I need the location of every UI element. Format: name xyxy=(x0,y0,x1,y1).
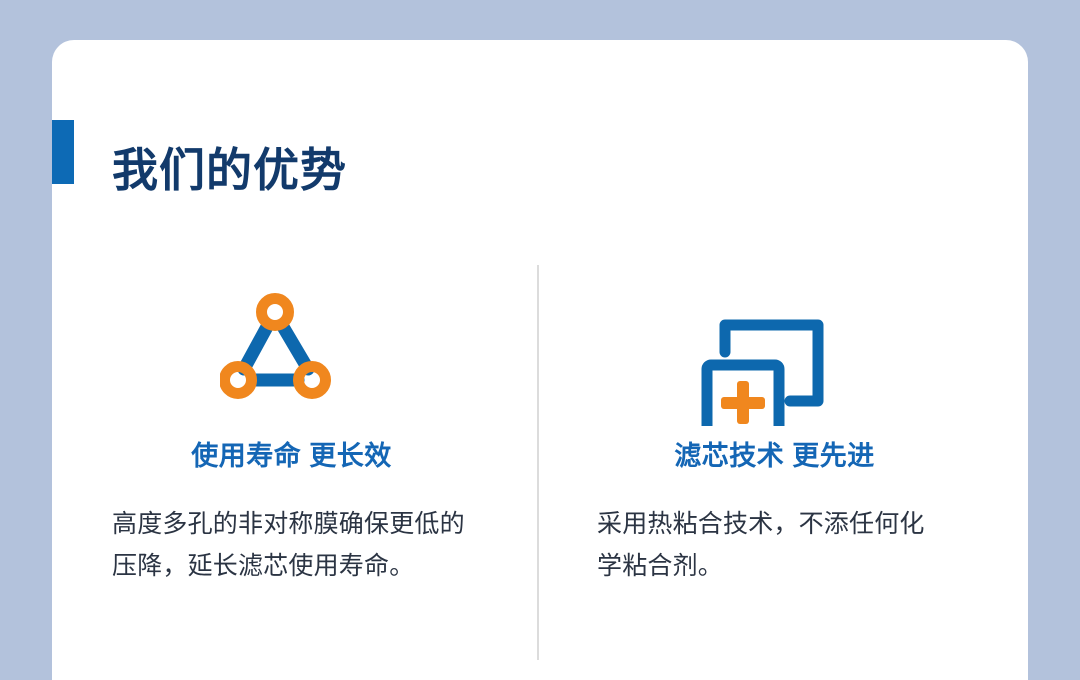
triangle-nodes-icon xyxy=(220,288,370,418)
slide-canvas: 我们的优势 使用寿命 更长效 高度多孔的非对称膜确保更低的压降，延长滤芯使用寿命… xyxy=(0,0,1080,660)
feature-description: 高度多孔的非对称膜确保更低的压降，延长滤芯使用寿命。 xyxy=(112,503,478,587)
feature-title: 使用寿命 更长效 xyxy=(112,440,469,472)
feature-icon-slot xyxy=(112,288,532,440)
feature-icon-slot xyxy=(597,288,1017,440)
feature-card-advanced-media: 滤芯技术 更先进 采用热粘合技术，不添任何化学粘合剂。 xyxy=(597,288,1017,587)
feature-description: 采用热粘合技术，不添任何化学粘合剂。 xyxy=(597,503,945,587)
overlapping-squares-plus-icon xyxy=(701,296,851,426)
column-divider xyxy=(537,265,539,660)
title-accent-bar xyxy=(52,120,74,184)
feature-title: 滤芯技术 更先进 xyxy=(597,440,952,472)
feature-card-longer-life: 使用寿命 更长效 高度多孔的非对称膜确保更低的压降，延长滤芯使用寿命。 xyxy=(112,288,532,587)
page-title: 我们的优势 xyxy=(112,144,347,197)
